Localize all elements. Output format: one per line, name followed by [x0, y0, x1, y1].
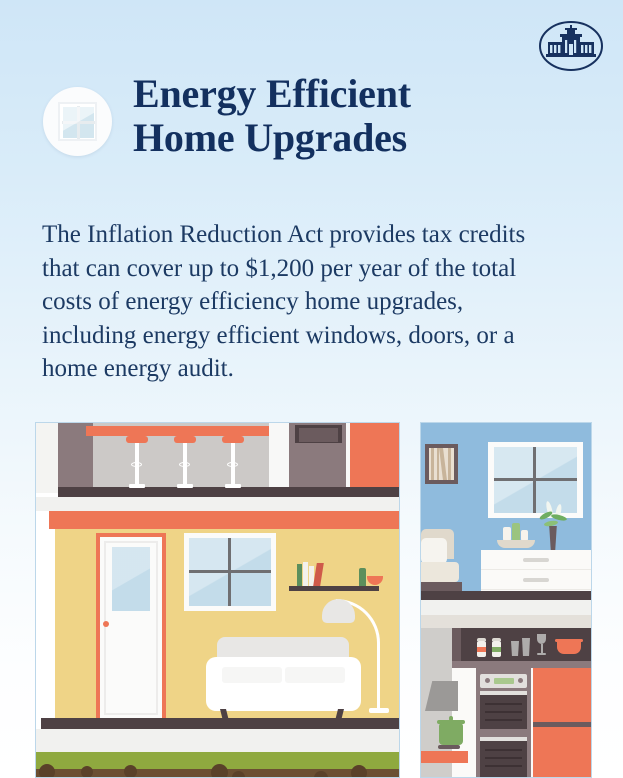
- stool-seat: [174, 436, 196, 443]
- picture-stroke: [448, 448, 451, 480]
- sofa-cushion: [222, 667, 282, 683]
- wall-art-canvas: [299, 428, 338, 442]
- book: [303, 562, 308, 586]
- stove-counter: [421, 751, 468, 763]
- bed-mattress: [421, 562, 459, 582]
- page-title: Energy Efficient Home Upgrades: [133, 72, 533, 160]
- window-pane: [80, 107, 94, 121]
- white-house-seal: [538, 20, 604, 72]
- shelf-glass: [511, 641, 519, 656]
- window-mullion-horizontal: [62, 121, 95, 124]
- stove-pot: [439, 723, 463, 745]
- bedroom-kitchen-illustration: [420, 422, 592, 778]
- oven-door-upper: [480, 691, 527, 729]
- shelf-pot: [555, 639, 583, 642]
- infographic-card: Energy Efficient Home Upgrades The Infla…: [0, 0, 623, 778]
- picture-stroke: [431, 448, 434, 480]
- level-gap: [36, 497, 399, 511]
- soil-pebble: [232, 771, 245, 778]
- oven-door-line: [485, 765, 522, 767]
- soil-pebble: [81, 766, 93, 778]
- door-knob: [103, 621, 109, 627]
- stove-burner: [438, 745, 460, 749]
- soil-band: [36, 769, 399, 778]
- floor-baseboard: [41, 718, 399, 729]
- sofa-body: [206, 657, 361, 711]
- upper-floor-band: [58, 487, 399, 497]
- picture-stroke: [439, 448, 447, 480]
- floor-divider-dark: [421, 591, 591, 600]
- candle: [512, 523, 520, 541]
- oven-door-line: [485, 749, 522, 751]
- jar-label: [492, 647, 501, 652]
- foundation-band: [36, 729, 399, 752]
- stool-footrest: [227, 462, 238, 467]
- wine-glass-foot: [537, 653, 546, 655]
- bottle: [359, 568, 366, 586]
- stool-seat: [126, 436, 148, 443]
- oven-control-panel: [480, 674, 527, 688]
- bar-stool: [126, 436, 148, 443]
- body-paragraph: The Inflation Reduction Act provides tax…: [42, 218, 542, 386]
- stool-base: [129, 484, 145, 488]
- refrigerator-upper: [533, 668, 591, 722]
- door-glass-gloss: [112, 547, 150, 611]
- shelf-board: [289, 586, 379, 591]
- drawer-handle: [523, 578, 549, 582]
- bed-pillow: [421, 538, 447, 564]
- bar-stool: [222, 436, 244, 443]
- book: [297, 564, 302, 586]
- drawer-handle: [523, 558, 549, 562]
- page-title-line-2: Home Upgrades: [133, 116, 533, 160]
- shelf-board-wrap: [289, 586, 379, 591]
- stool-footrest: [131, 462, 142, 467]
- shelf-jar: [492, 638, 501, 641]
- refrigerator-lower: [533, 727, 591, 778]
- kitchen-shelf-lip: [452, 661, 591, 668]
- stool-seat: [222, 436, 244, 443]
- picture-canvas: [429, 448, 454, 480]
- soil-pebble: [39, 764, 55, 778]
- soil-pebble: [211, 764, 228, 778]
- shelf-wine-glass: [537, 634, 546, 644]
- oven-knob: [518, 678, 523, 683]
- stool-base: [225, 484, 241, 488]
- candle: [503, 527, 511, 541]
- window-mullion-horizontal: [189, 570, 271, 573]
- floor-divider-beige: [421, 615, 591, 628]
- jar-label: [477, 647, 486, 652]
- wine-glass-stem: [541, 644, 543, 653]
- window-pane: [80, 124, 94, 138]
- oven-door-lower: [480, 737, 527, 778]
- bar-counter: [86, 426, 276, 436]
- drawer-divider: [481, 569, 591, 570]
- stool-footrest: [179, 462, 190, 467]
- oven-knob: [485, 678, 490, 683]
- bedroom-window-mullion-horizontal: [494, 478, 577, 481]
- window-pane: [63, 124, 77, 138]
- oven-door-line: [485, 711, 522, 713]
- window-pane: [63, 107, 77, 121]
- stool-base: [177, 484, 193, 488]
- floor-divider-light: [421, 600, 591, 615]
- bar-stool: [174, 436, 196, 443]
- pot-body: [557, 642, 581, 654]
- sofa-cushion: [285, 667, 345, 683]
- oven-handle-lower: [480, 737, 527, 741]
- oven-display: [494, 678, 514, 684]
- soil-pebble: [351, 765, 367, 778]
- bed-base: [421, 582, 462, 591]
- ceiling-band: [49, 511, 399, 529]
- page-title-line-1: Energy Efficient: [133, 72, 533, 116]
- window-badge: [43, 87, 112, 156]
- oven-handle-upper: [480, 691, 527, 695]
- soil-pebble: [314, 771, 328, 778]
- upper-wall-white: [269, 423, 289, 487]
- shelf-jar: [477, 638, 486, 641]
- floor-lamp-base: [369, 708, 389, 713]
- drawer-divider: [481, 589, 591, 590]
- shelf-glass: [522, 638, 530, 656]
- oven-door-line: [485, 719, 522, 721]
- wine-glass-bowl: [537, 634, 546, 644]
- tray: [497, 540, 535, 548]
- upper-wall-orange: [350, 423, 399, 487]
- window-icon: [58, 102, 97, 141]
- soil-pebble: [124, 765, 137, 778]
- oven-door-line: [485, 757, 522, 759]
- living-room-illustration: + + +: [35, 422, 400, 778]
- oven-door-line: [485, 703, 522, 705]
